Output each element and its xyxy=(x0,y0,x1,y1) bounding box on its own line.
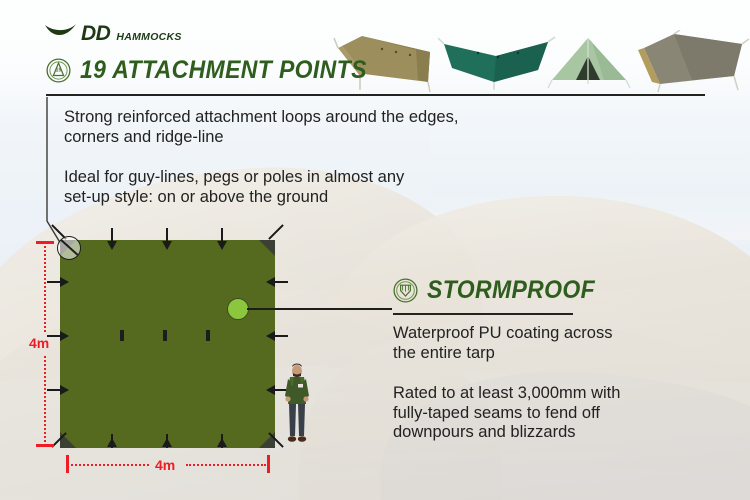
highlight-leader-line xyxy=(247,308,392,310)
logo-hammocks-text: HAMMOCKS xyxy=(116,32,181,43)
dimension-cap-bottom xyxy=(36,444,54,447)
tarp-photo-green-diamond xyxy=(438,32,556,92)
svg-text:19: 19 xyxy=(56,67,62,73)
attachment-arrow-top-1 xyxy=(107,241,117,250)
attachment-arrow-bottom-3 xyxy=(217,438,227,447)
attachment-arrow-left-2 xyxy=(60,331,69,341)
section-heading-stormproof: STORMPROOF xyxy=(393,278,610,303)
tarp-body xyxy=(60,240,275,448)
scale-reference-person xyxy=(281,362,313,448)
infographic-canvas: DD HAMMOCKS xyxy=(0,0,750,500)
attachment-points-text-block: Strong reinforced attachment loops aroun… xyxy=(64,108,664,207)
tarp-dimension-diagram xyxy=(60,240,275,448)
attachment-arrow-bottom-2 xyxy=(162,438,172,447)
dimension-label-height: 4m xyxy=(29,336,49,350)
dimension-cap-right xyxy=(267,455,270,473)
tarp-photo-camo-lean-to xyxy=(630,30,750,94)
magnifier-slash xyxy=(59,238,81,258)
tarp-photo-strip xyxy=(330,22,750,94)
section-title-text: 19 ATTACHMENT POINTS xyxy=(80,58,367,83)
attachment-points-paragraph-1: Strong reinforced attachment loops aroun… xyxy=(64,108,664,147)
stormproof-text-block: Waterproof PU coating acrossthe entire t… xyxy=(393,324,723,443)
attachment-arrow-stem xyxy=(166,228,168,242)
stormproof-paragraph-2: Rated to at least 3,000mm withfully-tape… xyxy=(393,384,723,443)
logo-dd-text: DD xyxy=(81,23,110,44)
attachment-arrow-stem xyxy=(111,228,113,242)
ridge-loop-1 xyxy=(120,330,124,341)
brand-logo: DD HAMMOCKS xyxy=(44,22,182,44)
attachment-arrow-left-3 xyxy=(60,385,69,395)
dimension-line-horizontal-right xyxy=(186,464,266,466)
attachment-arrow-top-3 xyxy=(217,241,227,250)
attachment-arrow-top-2 xyxy=(162,241,172,250)
attachment-arrow-bottom-1 xyxy=(107,438,117,447)
section-title-text: STORMPROOF xyxy=(427,278,595,303)
stormproof-paragraph-1: Waterproof PU coating acrossthe entire t… xyxy=(393,324,723,363)
dimension-cap-top xyxy=(36,241,54,244)
attachment-arrow-stem xyxy=(47,281,61,283)
dimension-cap-left xyxy=(66,455,69,473)
section-heading-attachment-points: 19 19 ATTACHMENT POINTS xyxy=(46,58,392,83)
attachment-arrow-right-3 xyxy=(266,385,275,395)
dimension-line-vertical-upper xyxy=(44,246,46,332)
ridge-loop-3 xyxy=(206,330,210,341)
dimension-line-vertical-lower xyxy=(44,356,46,442)
ridge-loop-2 xyxy=(163,330,167,341)
attachment-arrow-stem xyxy=(47,389,61,391)
attachment-arrow-stem xyxy=(274,281,288,283)
tree-emblem-badge-icon: 19 xyxy=(46,58,71,83)
attachment-arrow-stem xyxy=(221,228,223,242)
attachment-arrow-right-1 xyxy=(266,277,275,287)
attachment-points-callout: Strong reinforced attachment loops aroun… xyxy=(46,96,706,246)
shield-emblem-badge-icon xyxy=(393,278,418,303)
heading-rule-stormproof xyxy=(393,313,573,315)
attachment-arrow-stem xyxy=(274,335,288,337)
dimension-label-width: 4m xyxy=(155,458,175,472)
hammock-swoosh-icon xyxy=(44,22,77,40)
dimension-line-horizontal-left xyxy=(71,464,149,466)
corner-loop-magnifier xyxy=(57,236,81,260)
attachment-arrow-right-2 xyxy=(266,331,275,341)
tarp-photo-a-frame-tent xyxy=(544,32,634,94)
attachment-points-paragraph-2: Ideal for guy-lines, pegs or poles in al… xyxy=(64,168,664,207)
attachment-point-highlight xyxy=(227,298,249,320)
attachment-arrow-left-1 xyxy=(60,277,69,287)
